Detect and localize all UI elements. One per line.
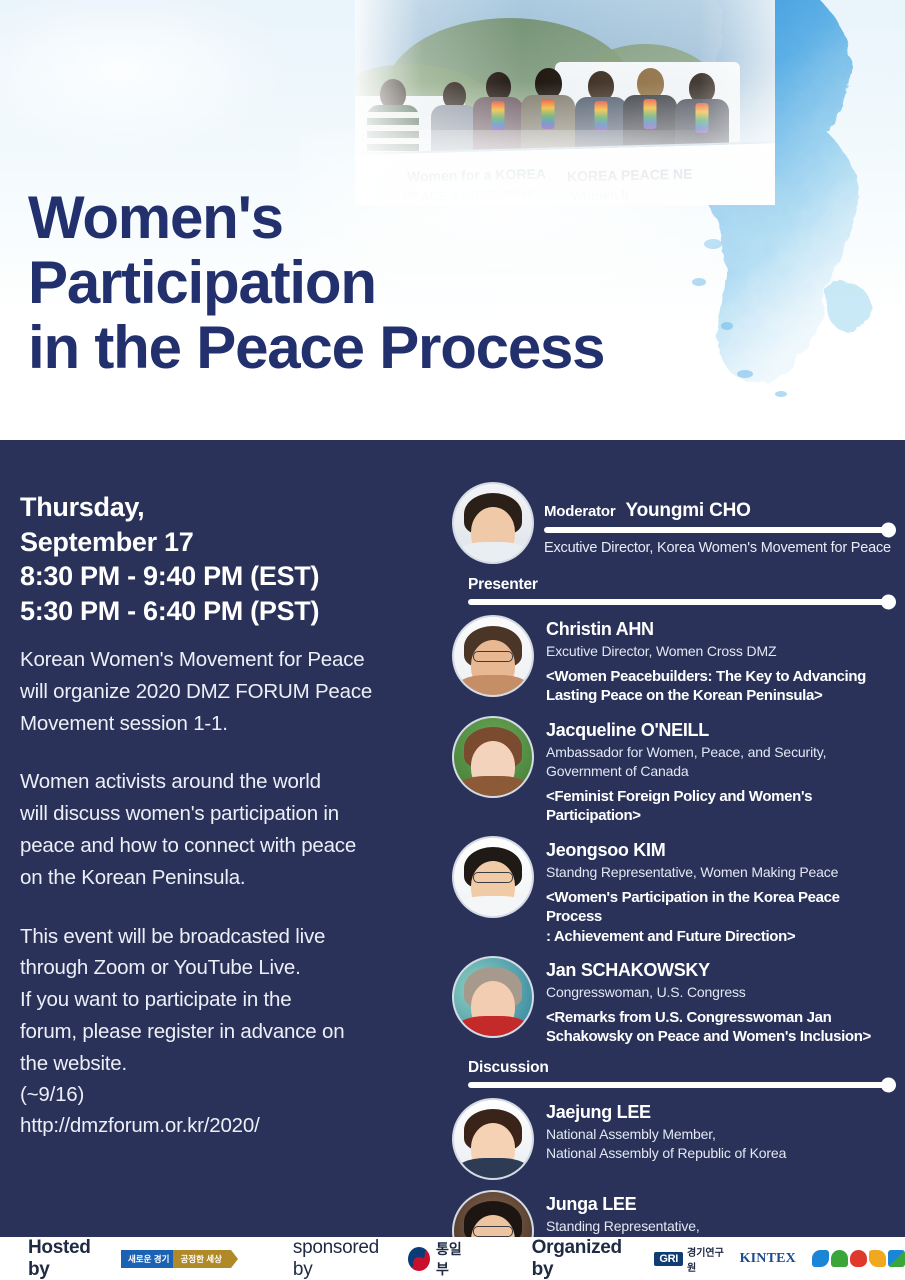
speaker-name: Jan SCHAKOWSKY: [546, 960, 892, 981]
speaker-topic: <Remarks from U.S. Congresswoman Jan Sch…: [546, 1008, 892, 1047]
speakers-column: Moderator Youngmi CHO Excutive Director,…: [452, 482, 892, 1272]
speaker-name: Christin AHN: [546, 619, 892, 640]
event-date: September 17: [20, 525, 430, 560]
speaker-title: Standng Representative, Women Making Pea…: [546, 863, 892, 882]
description-paragraph-3: This event will be broadcasted live thro…: [20, 921, 430, 1112]
speaker-topic: <Women's Participation in the Korea Peac…: [546, 888, 892, 947]
description-paragraph-2: Women activists around the world will di…: [20, 766, 430, 893]
speaker-row: Christin AHN Excutive Director, Women Cr…: [452, 615, 892, 706]
speaker-title: Congresswoman, U.S. Congress: [546, 983, 892, 1002]
moderator-title: Excutive Director, Korea Women's Movemen…: [544, 540, 892, 556]
moderator-name: Youngmi CHO: [626, 500, 751, 522]
gri-logo: GRI 경기연구원: [654, 1244, 727, 1274]
speaker-row: Jacqueline O'NEILL Ambassador for Women,…: [452, 716, 892, 826]
presenter-divider: [468, 599, 892, 605]
avatar: [452, 836, 534, 918]
ministry-of-unification-logo: 통일부: [408, 1239, 472, 1279]
logo-block-orange: [869, 1250, 886, 1267]
speaker-name: Jacqueline O'NEILL: [546, 720, 892, 741]
speaker-topic: <Feminist Foreign Policy and Women's Par…: [546, 787, 892, 826]
logo-block-blue: [812, 1250, 829, 1267]
description-paragraph-1: Korean Women's Movement for Peace will o…: [20, 644, 430, 739]
taegeuk-icon: [408, 1247, 430, 1271]
presenter-section-label: Presenter: [468, 576, 892, 594]
speaker-title: Excutive Director, Women Cross DMZ: [546, 642, 892, 661]
event-time-pst: 5:30 PM - 6:40 PM (PST): [20, 594, 430, 629]
discussion-divider: [468, 1082, 892, 1088]
kintex-logo: KINTEX: [740, 1251, 796, 1267]
avatar: [452, 1098, 534, 1180]
moderator-divider: [544, 527, 892, 533]
avatar: [452, 956, 534, 1038]
discussant-name: Jaejung LEE: [546, 1102, 892, 1123]
footer-logo-bar: Hosted by 새로운 경기 공정한 세상 sponsored by 통일부…: [0, 1237, 905, 1280]
moderator-role-label: Moderator: [544, 503, 616, 520]
event-day: Thursday,: [20, 490, 430, 525]
speaker-topic: <Women Peacebuilders: The Key to Advanci…: [546, 667, 892, 706]
ministry-name: 통일부: [436, 1239, 472, 1279]
discussant-name: Junga LEE: [546, 1194, 892, 1215]
event-poster: Women for a KOREA PEACE AGREEMENT KOREA …: [0, 0, 905, 1280]
event-details-column: Thursday, September 17 8:30 PM - 9:40 PM…: [20, 490, 430, 1142]
hosted-by-label: Hosted by: [28, 1237, 111, 1280]
peace-rally-photo: Women for a KOREA PEACE AGREEMENT KOREA …: [355, 0, 775, 205]
speaker-title: Ambassador for Women, Peace, and Securit…: [546, 743, 892, 781]
avatar: [452, 482, 534, 564]
discussant-row: Jaejung LEE National Assembly Member, Na…: [452, 1098, 892, 1180]
logo-block-green: [831, 1250, 848, 1267]
avatar: [452, 716, 534, 798]
logo-block-red: [850, 1250, 867, 1267]
speaker-name: Jeongsoo KIM: [546, 840, 892, 861]
speaker-row: Jeongsoo KIM Standng Representative, Wom…: [452, 836, 892, 946]
discussion-section-label: Discussion: [468, 1059, 892, 1077]
gyeonggi-logo-gold-text: 공정한 세상: [173, 1250, 230, 1268]
speaker-row: Jan SCHAKOWSKY Congresswoman, U.S. Congr…: [452, 956, 892, 1047]
registration-url[interactable]: http://dmzforum.or.kr/2020/: [20, 1111, 430, 1142]
gri-korean-text: 경기연구원: [687, 1244, 728, 1274]
organized-by-label: Organized by: [532, 1237, 641, 1280]
event-time-est: 8:30 PM - 9:40 PM (EST): [20, 559, 430, 594]
presenter-section: Presenter Christin AHN Excutive Director…: [452, 576, 892, 1047]
gyeonggi-province-logo: 새로운 경기 공정한 세상: [121, 1250, 231, 1268]
poster-body: Thursday, September 17 8:30 PM - 9:40 PM…: [0, 440, 905, 1237]
poster-title: Women's Participation in the Peace Proce…: [28, 186, 604, 380]
gri-mark-text: GRI: [654, 1252, 683, 1266]
avatar: [452, 615, 534, 697]
discussant-title: National Assembly Member, National Assem…: [546, 1125, 892, 1163]
moderator-row: Moderator Youngmi CHO Excutive Director,…: [452, 482, 892, 564]
logo-block-grid: [888, 1250, 905, 1267]
colorful-blocks-logo: [812, 1250, 905, 1267]
gyeonggi-logo-blue-text: 새로운 경기: [121, 1250, 178, 1268]
sponsored-by-label: sponsored by: [293, 1237, 396, 1280]
